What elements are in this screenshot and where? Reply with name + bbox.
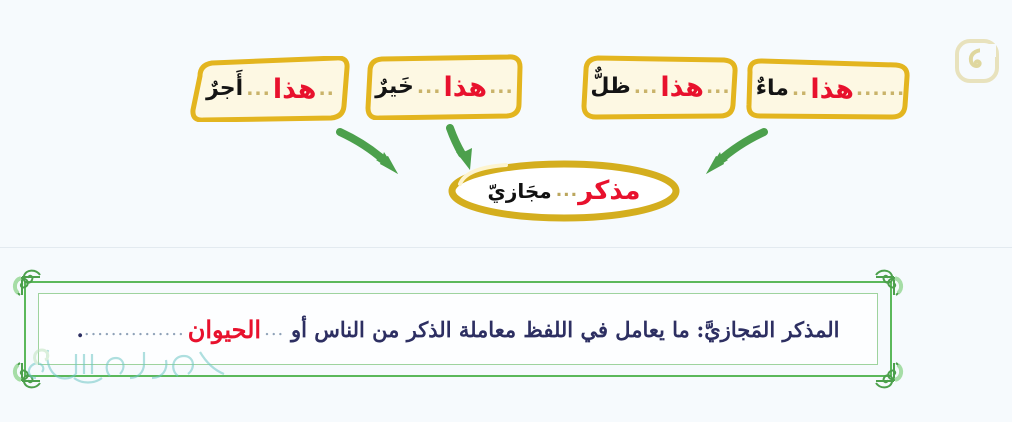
definition-period: . [77,317,84,342]
blank-dots: ... [246,80,271,99]
keyword-hadha: هذا [808,76,856,103]
blank-dots: .. [318,80,334,99]
example-word: ظلٌّ [587,76,633,98]
result-oval-text: مذكر... مجَازيّ [444,158,684,224]
example-box-ajr-text: ..هذا... أَجرٌ [188,56,350,122]
blank-dots: ...... [856,80,905,99]
definition-frame: المذكر المَجازيَّ: ما يعامل في اللفظ معا… [24,281,892,377]
oval-word: مجَازيّ [488,179,556,203]
definition-body: ما يعامل في اللفظ معاملة الذكر من الناس … [291,317,690,342]
keyword-hadha: هذا [271,76,319,103]
keyword-hadha: هذا [658,74,706,101]
example-word: أَجرٌ [203,78,246,100]
example-box-zill-text: ...هذا... ظلٌّ [578,54,740,120]
example-box-zill[interactable]: ...هذا... ظلٌّ [578,54,740,120]
blank-dots: .. [792,80,808,99]
example-word: خَيرٌ [372,76,417,98]
example-box-khayr-text: ...هذا... خَيرٌ [362,54,524,120]
blank-dots: ... [264,319,284,340]
definition-text: المذكر المَجازيَّ: ما يعامل في اللفظ معا… [24,281,892,377]
blank-dots: ... [489,78,514,97]
section-divider [0,247,1012,248]
blank-dots: ... [706,78,731,97]
worksheet-page: ..هذا... أَجرٌ ...هذا... خَيرٌ ...هذا...… [0,0,1012,422]
result-oval[interactable]: مذكر... مجَازيّ [444,158,684,224]
arrow-from-maa-icon [686,126,772,180]
definition-answer: الحيوان [185,315,264,344]
gold-circle-logo [954,38,1000,84]
example-box-maa[interactable]: ......هذا.. ماءٌ [744,56,914,122]
oval-keyword: مذكر [578,176,640,206]
definition-separator: : [696,317,704,342]
example-box-khayr[interactable]: ...هذا... خَيرٌ [362,54,524,120]
arrow-from-khayr-icon [332,126,412,180]
blank-dots: ............... [84,319,185,340]
keyword-hadha: هذا [441,74,489,101]
blank-dots: ... [634,78,659,97]
example-box-maa-text: ......هذا.. ماءٌ [744,56,914,122]
example-word: ماءٌ [753,78,792,100]
example-box-ajr[interactable]: ..هذا... أَجرٌ [188,56,350,122]
blank-dots: ... [556,181,578,201]
definition-term: المذكر المَجازيَّ [704,317,839,342]
blank-dots: ... [417,78,442,97]
